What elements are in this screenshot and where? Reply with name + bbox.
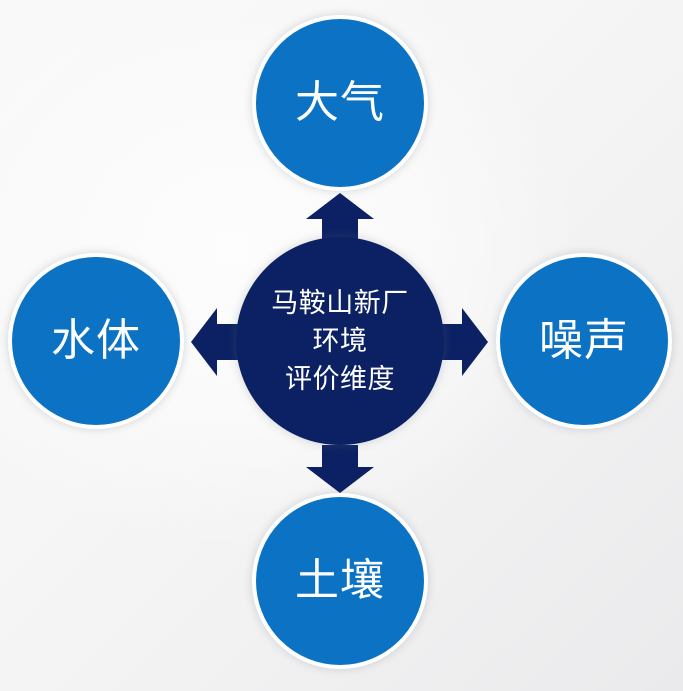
diagram-canvas: 大气 噪声 土壤 水体 马鞍山新厂环境评价维度: [0, 0, 683, 691]
node-circle-left[interactable]: 水体: [8, 253, 184, 429]
node-circle-bottom[interactable]: 土壤: [252, 493, 428, 669]
node-label-right: 噪声: [539, 318, 629, 364]
arrow-right-icon: [440, 308, 488, 376]
arrow-up-icon: [306, 193, 374, 241]
node-label-top: 大气: [295, 80, 385, 126]
node-circle-top[interactable]: 大气: [252, 15, 428, 191]
node-label-center: 马鞍山新厂环境评价维度: [271, 284, 409, 399]
node-label-bottom: 土壤: [295, 558, 385, 604]
node-circle-right[interactable]: 噪声: [496, 253, 672, 429]
node-circle-center[interactable]: 马鞍山新厂环境评价维度: [236, 237, 444, 445]
arrow-down-icon: [306, 445, 374, 493]
node-label-left: 水体: [51, 318, 141, 364]
arrow-left-icon: [191, 308, 239, 376]
